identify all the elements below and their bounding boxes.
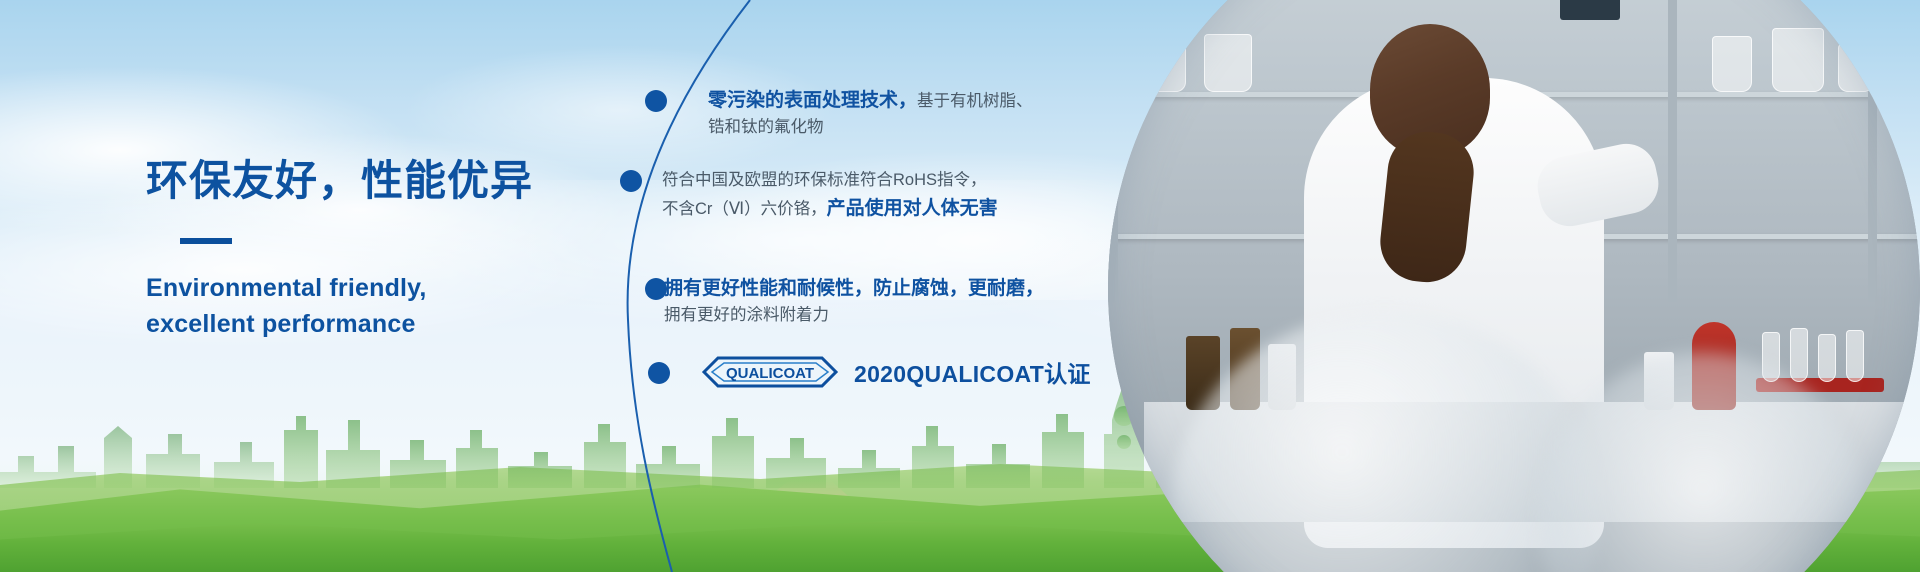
lab-photo-circle (1108, 0, 1920, 572)
feature-1-line2: 锆和钛的氟化物 (708, 118, 824, 136)
promo-banner: 环保友好，性能优异 Environmental friendly, excell… (0, 0, 1920, 572)
feature-1-bold: 零污染的表面处理技术， (708, 90, 917, 111)
feature-item-1: 零污染的表面处理技术，基于有机树脂、 锆和钛的氟化物 (708, 86, 1033, 141)
feature-3-line2: 拥有更好的涂料附着力 (664, 306, 829, 324)
photo-vignette (1108, 0, 1920, 572)
certification-block: QUALICOAT 2020QUALICOAT认证 (700, 352, 1091, 392)
feature-item-3: 拥有更好性能和耐候性，防止腐蚀，更耐磨， 拥有更好的涂料附着力 (664, 274, 1044, 329)
feature-item-2: 符合中国及欧盟的环保标准符合RoHS指令， 不含Cr（Ⅵ）六价铬，产品使用对人体… (662, 168, 998, 223)
feature-2-line2-normal: 不含Cr（Ⅵ）六价铬， (662, 200, 827, 218)
certification-label: 2020QUALICOAT认证 (854, 355, 1091, 389)
qualicoat-logo-text: QUALICOAT (726, 365, 814, 382)
qualicoat-logo-icon: QUALICOAT (700, 352, 840, 392)
feature-2-line1: 符合中国及欧盟的环保标准符合RoHS指令， (662, 171, 987, 189)
feature-1-normal: 基于有机树脂、 (917, 92, 1033, 110)
feature-2-line2-bold: 产品使用对人体无害 (827, 198, 998, 219)
feature-3-bold: 拥有更好性能和耐候性，防止腐蚀，更耐磨， (664, 278, 1044, 299)
